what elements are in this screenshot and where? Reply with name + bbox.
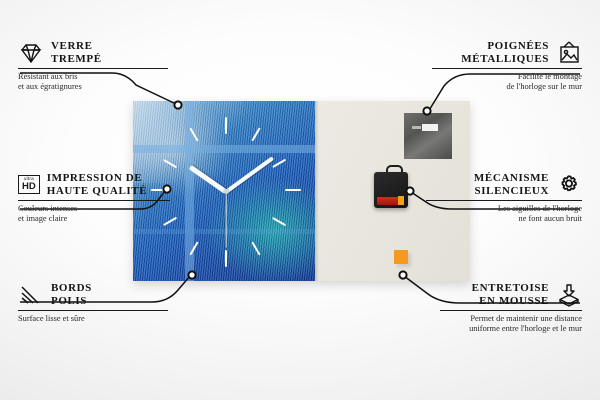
clock-tick bbox=[272, 217, 286, 227]
callout-sub-line1: Permet de maintenir une distance bbox=[440, 314, 582, 324]
gear-icon bbox=[556, 173, 582, 197]
callout-title-line2: EN MOUSSE bbox=[472, 295, 549, 308]
picture-hanger-icon bbox=[556, 41, 582, 65]
callout-title-line1: ENTRETOISE bbox=[472, 282, 549, 295]
callout-title-line2: HAUTE QUALITÉ bbox=[47, 185, 147, 198]
callout-sub-line2: ne font aucun bruit bbox=[426, 214, 582, 224]
callout-sub-line1: Facilite le montage bbox=[432, 72, 582, 82]
callout-sub-line1: Couleurs intenses bbox=[18, 204, 170, 214]
callout-sub-line1: Surface lisse et sûre bbox=[18, 314, 168, 324]
callout-rule bbox=[426, 200, 582, 201]
callout-sub-line2: et aux égratignures bbox=[18, 82, 168, 92]
clock-tick bbox=[251, 241, 261, 255]
clock-tick bbox=[285, 189, 301, 191]
clock-center-pin bbox=[224, 189, 229, 194]
clock-tick bbox=[225, 250, 227, 267]
callout-header: BORDS POLIS bbox=[18, 282, 168, 307]
clock-second-hand bbox=[225, 192, 226, 248]
callout-rule bbox=[18, 310, 168, 311]
callout-verre-trempe[interactable]: VERRE TREMPÉ Résistant aux bris et aux é… bbox=[18, 40, 168, 92]
callout-bords-polis[interactable]: BORDS POLIS Surface lisse et sûre bbox=[18, 282, 168, 324]
metal-hanger-plate bbox=[404, 113, 452, 159]
infographic-canvas: VERRE TREMPÉ Résistant aux bris et aux é… bbox=[0, 0, 600, 400]
pattern-line-horizontal-2 bbox=[133, 229, 315, 234]
panel-edge-shadow bbox=[315, 101, 319, 281]
foam-spacer-icon bbox=[556, 283, 582, 307]
callout-sub-line2: de l'horloge sur le mur bbox=[432, 82, 582, 92]
callout-header: ultra HD IMPRESSION DE HAUTE QUALITÉ bbox=[18, 172, 170, 197]
callout-mecanisme-silencieux[interactable]: MÉCANISME SILENCIEUX Les aiguilles de l'… bbox=[426, 172, 582, 224]
battery-terminal bbox=[398, 196, 404, 205]
callout-header: MÉCANISME SILENCIEUX bbox=[426, 172, 582, 197]
callout-entretoise-en-mousse[interactable]: ENTRETOISE EN MOUSSE Permet de maintenir… bbox=[440, 282, 582, 334]
polished-edges-icon bbox=[18, 284, 44, 306]
callout-poignees-metalliques[interactable]: POIGNÉES MÉTALLIQUES Facilite le montage… bbox=[432, 40, 582, 92]
callout-rule bbox=[440, 310, 582, 311]
callout-sub-line1: Les aiguilles de l'horloge bbox=[426, 204, 582, 214]
hanger-slot-secondary bbox=[412, 126, 421, 129]
foam-spacer-pad bbox=[394, 250, 408, 264]
hanger-slot bbox=[422, 124, 438, 131]
callout-title-line1: BORDS bbox=[51, 282, 92, 295]
ultra-hd-bottom-text: HD bbox=[22, 182, 36, 192]
callout-title-line1: VERRE bbox=[51, 40, 102, 53]
callout-header: POIGNÉES MÉTALLIQUES bbox=[432, 40, 582, 65]
callout-title-line2: MÉTALLIQUES bbox=[461, 53, 549, 66]
callout-rule bbox=[432, 68, 582, 69]
callout-title-line1: MÉCANISME bbox=[474, 172, 549, 185]
callout-impression-haute-qualite[interactable]: ultra HD IMPRESSION DE HAUTE QUALITÉ Cou… bbox=[18, 172, 170, 224]
callout-title-line2: SILENCIEUX bbox=[474, 185, 549, 198]
callout-title-line1: POIGNÉES bbox=[461, 40, 549, 53]
callout-rule bbox=[18, 200, 170, 201]
callout-title-line2: POLIS bbox=[51, 295, 92, 308]
callout-sub-line1: Résistant aux bris bbox=[18, 72, 168, 82]
callout-header: ENTRETOISE EN MOUSSE bbox=[440, 282, 582, 307]
callout-sub-line2: uniforme entre l'horloge et le mur bbox=[440, 324, 582, 334]
diamond-icon bbox=[18, 42, 44, 64]
pattern-line-horizontal bbox=[133, 145, 315, 153]
clock-tick bbox=[272, 159, 286, 169]
callout-title-line1: IMPRESSION DE bbox=[47, 172, 147, 185]
callout-sub-line2: et image claire bbox=[18, 214, 170, 224]
callout-header: VERRE TREMPÉ bbox=[18, 40, 168, 65]
callout-title-line2: TREMPÉ bbox=[51, 53, 102, 66]
callout-rule bbox=[18, 68, 168, 69]
clock-tick bbox=[251, 127, 261, 141]
ultra-hd-icon: ultra HD bbox=[18, 175, 40, 193]
